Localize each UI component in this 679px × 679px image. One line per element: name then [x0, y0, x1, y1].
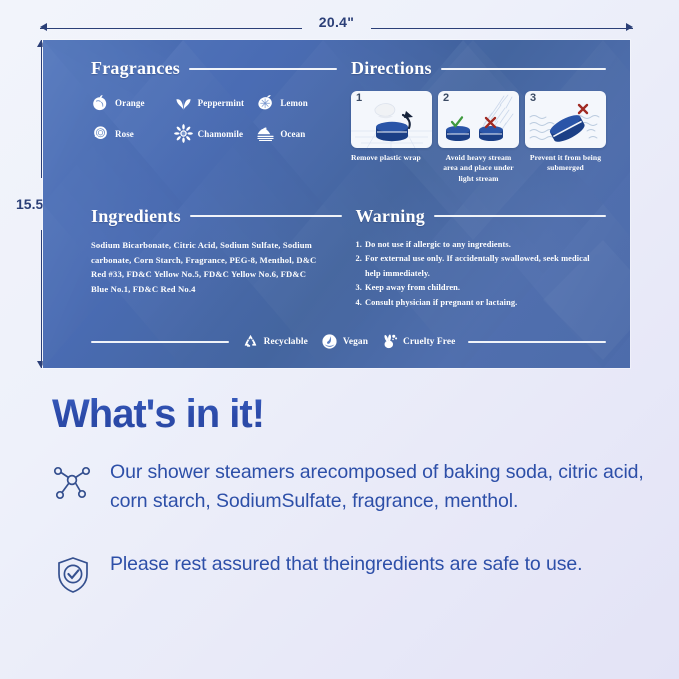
fragrance-label: Lemon — [280, 98, 308, 108]
ingredients-heading-row: Ingredients — [91, 206, 342, 227]
width-arrow-right — [626, 23, 633, 31]
unwrap-tablet-icon — [351, 91, 432, 148]
fragrance-item-orange: Orange — [91, 93, 172, 112]
heading-rule — [441, 68, 606, 70]
tablet-in-water-icon — [525, 91, 606, 148]
direction-step-1: 1 — [351, 91, 432, 184]
whats-in-it-section: What's in it! Our shower steamers arecom… — [52, 392, 659, 630]
orange-icon — [91, 93, 110, 112]
step-caption: Remove plastic wrap — [351, 153, 432, 163]
warning-section: Warning 1. Do not use if allergic to any… — [356, 206, 607, 310]
ingredients-body: Sodium Bicarbonate, Citric Acid, Sodium … — [91, 238, 323, 297]
fragrance-label: Peppermint — [198, 98, 245, 108]
fragrance-item-peppermint: Peppermint — [174, 93, 255, 112]
step-number: 2 — [443, 92, 449, 104]
warning-item-number: 1. — [356, 238, 362, 252]
label-row-bottom: Ingredients Sodium Bicarbonate, Citric A… — [91, 206, 606, 310]
ingredients-section: Ingredients Sodium Bicarbonate, Citric A… — [91, 206, 342, 310]
warning-item-text: Keep away from children. — [365, 281, 460, 295]
recycle-icon — [242, 333, 259, 350]
directions-section: Directions 1 — [351, 58, 606, 184]
molecule-icon — [52, 462, 94, 504]
badge-label: Recyclable — [264, 337, 308, 347]
peppermint-leaf-icon — [174, 93, 193, 112]
fragrance-label: Orange — [115, 98, 145, 108]
info-bullet-text: Please rest assured that theingredients … — [110, 550, 582, 579]
warning-item: 2. For external use only. If accidentall… — [356, 252, 607, 281]
ocean-wave-icon — [256, 124, 275, 143]
step-caption: Prevent it from being submerged — [525, 153, 606, 174]
warning-item-text: For external use only. If accidentally s… — [365, 252, 606, 281]
lemon-icon — [256, 93, 275, 112]
fragrance-item-ocean: Ocean — [256, 124, 337, 143]
warning-item: 3. Keep away from children. — [356, 281, 607, 295]
label-row-top: Fragrances Orange — [91, 58, 606, 184]
shield-check-icon — [52, 554, 94, 596]
badge-recyclable: Recyclable — [242, 333, 308, 350]
width-line-right — [371, 28, 633, 29]
fragrance-item-lemon: Lemon — [256, 93, 337, 112]
chamomile-flower-icon — [174, 124, 193, 143]
badge-vegan: Vegan — [321, 333, 368, 350]
rose-icon — [91, 124, 110, 143]
warning-list: 1. Do not use if allergic to any ingredi… — [356, 238, 607, 310]
step-illustration-card: 1 — [351, 91, 432, 148]
directions-heading: Directions — [351, 58, 432, 79]
certification-badges-row: Recyclable Vegan — [91, 333, 606, 350]
fragrances-heading-row: Fragrances — [91, 58, 337, 79]
fragrance-label: Ocean — [280, 129, 305, 139]
fragrance-item-rose: Rose — [91, 124, 172, 143]
fragrance-item-chamomile: Chamomile — [174, 124, 255, 143]
rabbit-cruelty-free-icon — [381, 333, 398, 350]
height-line-bottom — [41, 230, 42, 368]
heading-rule — [434, 215, 606, 217]
warning-heading: Warning — [356, 206, 425, 227]
warning-item-number: 3. — [356, 281, 362, 295]
fragrances-section: Fragrances Orange — [91, 58, 337, 184]
ingredients-heading: Ingredients — [91, 206, 181, 227]
info-bullet-ingredients: Our shower steamers arecomposed of bakin… — [52, 458, 659, 516]
vegan-leaf-icon — [321, 333, 338, 350]
page-title: What's in it! — [52, 392, 659, 436]
product-label-panel: Fragrances Orange — [43, 40, 630, 368]
step-illustration-card: 2 — [438, 91, 519, 148]
badge-label: Cruelty Free — [403, 337, 455, 347]
warning-heading-row: Warning — [356, 206, 607, 227]
warning-item-text: Consult physician if pregnant or lactain… — [365, 296, 517, 310]
info-bullet-text: Our shower steamers arecomposed of bakin… — [110, 458, 659, 516]
badge-label: Vegan — [343, 337, 368, 347]
fragrances-heading: Fragrances — [91, 58, 180, 79]
step-number: 3 — [530, 92, 536, 104]
warning-item: 4. Consult physician if pregnant or lact… — [356, 296, 607, 310]
direction-step-2: 2 — [438, 91, 519, 184]
width-arrow-left — [40, 23, 47, 31]
heading-rule — [190, 215, 342, 217]
badges-rule-left — [91, 341, 229, 343]
direction-step-3: 3 — [525, 91, 606, 184]
info-bullet-safety: Please rest assured that theingredients … — [52, 550, 659, 596]
width-dimension-guide: 20.4" — [40, 18, 633, 38]
step-number: 1 — [356, 92, 362, 104]
warning-item-text: Do not use if allergic to any ingredient… — [365, 238, 511, 252]
step-illustration-card: 3 — [525, 91, 606, 148]
width-line-left — [40, 28, 302, 29]
warning-item-number: 4. — [356, 296, 362, 310]
step-caption: Avoid heavy stream area and place under … — [438, 153, 519, 184]
heading-rule — [189, 68, 337, 70]
directions-steps: 1 — [351, 91, 606, 184]
warning-item: 1. Do not use if allergic to any ingredi… — [356, 238, 607, 252]
directions-heading-row: Directions — [351, 58, 606, 79]
height-line-top — [41, 40, 42, 178]
fragrance-label: Chamomile — [198, 129, 243, 139]
fragrances-grid: Orange Peppermint — [91, 93, 337, 143]
warning-item-number: 2. — [356, 252, 362, 281]
width-dimension-label: 20.4" — [319, 14, 354, 30]
fragrance-label: Rose — [115, 129, 134, 139]
shower-stream-tablets-icon — [438, 91, 519, 148]
badge-cruelty-free: Cruelty Free — [381, 333, 455, 350]
badges-rule-right — [468, 341, 606, 343]
